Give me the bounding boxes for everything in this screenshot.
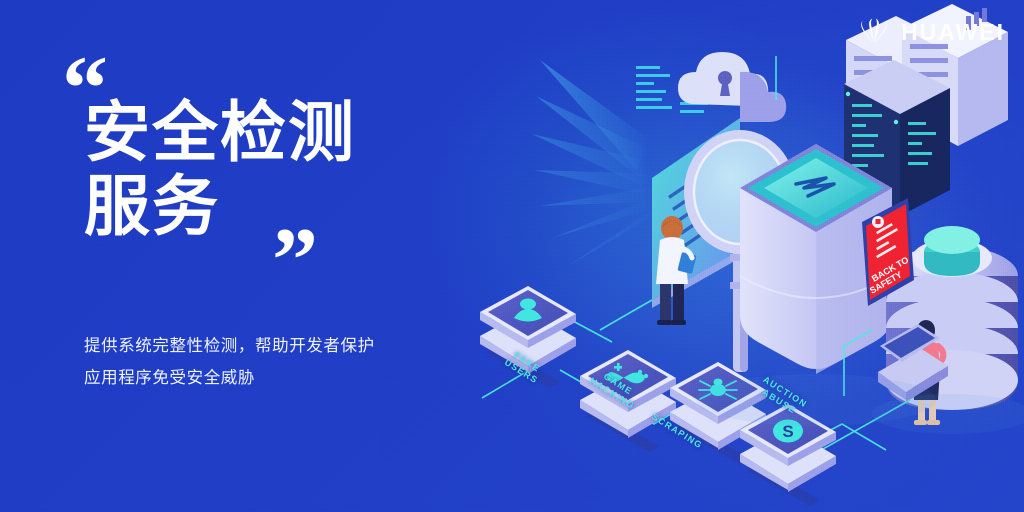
quote-close-mark: ” xyxy=(272,214,318,306)
illustration-canvas: BACK TO SAFETY xyxy=(440,0,1024,512)
brand-wordmark: HUAWEI xyxy=(901,21,1005,44)
security-detection-banner: BACK TO SAFETY xyxy=(0,0,1024,512)
hero-subtitle: 提供系统完整性检测，帮助开发者保护 应用程序免受安全威胁 xyxy=(84,330,464,394)
huawei-petal-logo-icon xyxy=(856,18,892,46)
title-line-1: 安全检测 xyxy=(84,95,356,169)
security-illustration: BACK TO SAFETY xyxy=(440,0,1024,512)
hero-copy: “ 安全检测 服务 ” 提供系统完整性检测，帮助开发者保护 应用程序免受安全威胁 xyxy=(0,0,470,512)
subtitle-line-1: 提供系统完整性检测，帮助开发者保护 xyxy=(84,330,464,362)
subtitle-line-2: 应用程序免受安全威胁 xyxy=(84,362,464,394)
brand-logo: HUAWEI xyxy=(856,18,1005,46)
